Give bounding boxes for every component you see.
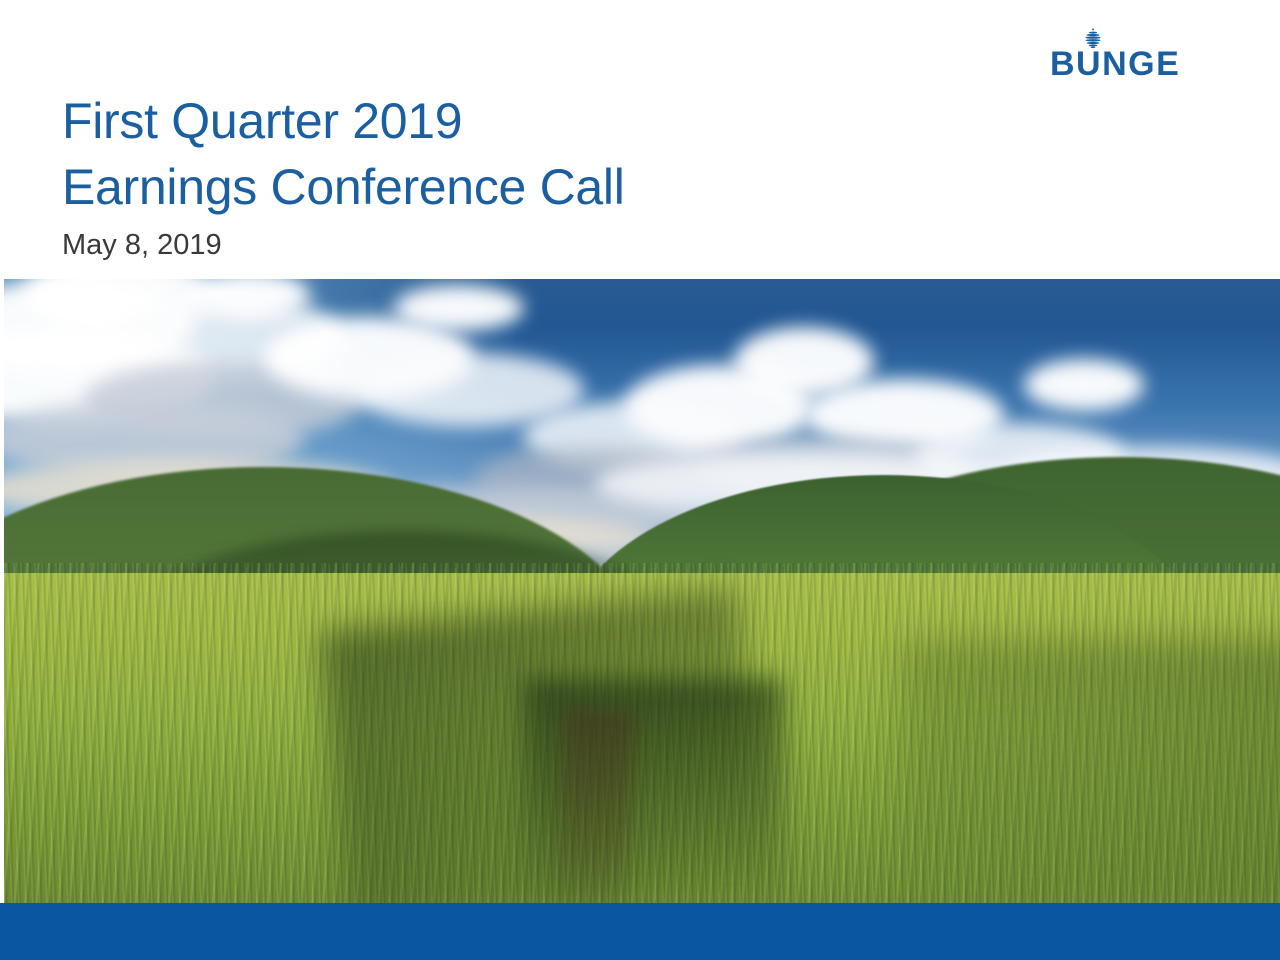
- bunge-logo: BUNGE: [1050, 27, 1240, 81]
- page-title-line-1: First Quarter 2019: [62, 88, 962, 154]
- page-title-line-2: Earnings Conference Call: [62, 154, 962, 220]
- svg-text:BUNGE: BUNGE: [1050, 46, 1180, 81]
- slide-header: BUNGE First Quarter 2019 Earnings Confer…: [0, 0, 1280, 279]
- foreground-dirt-path: [555, 707, 635, 903]
- bunge-wordmark: BUNGE: [1050, 46, 1240, 81]
- title-block: First Quarter 2019 Earnings Conference C…: [62, 88, 962, 262]
- footer-accent-bar: [0, 903, 1280, 960]
- title-slide-background-photo: [4, 279, 1280, 903]
- foreground-shadow-right: [900, 639, 1280, 903]
- presentation-date: May 8, 2019: [62, 228, 962, 262]
- presentation-slide: BUNGE First Quarter 2019 Earnings Confer…: [0, 0, 1280, 960]
